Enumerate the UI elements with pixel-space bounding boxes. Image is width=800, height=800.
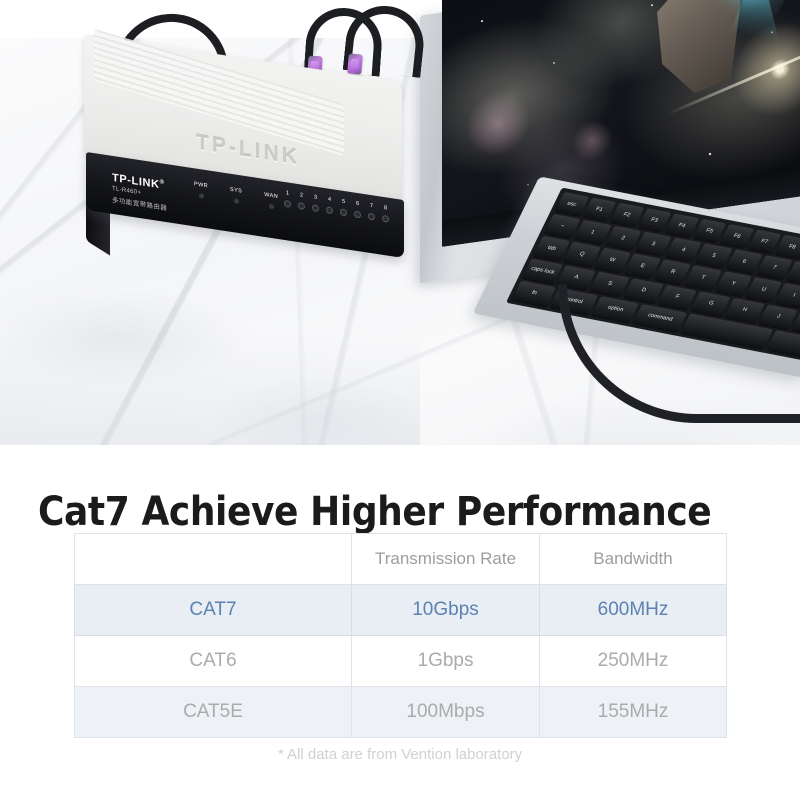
cell-category: CAT7 (75, 585, 352, 636)
cell-bandwidth: 600MHz (540, 585, 727, 636)
desk-edge-shadow (0, 330, 420, 445)
key: Q (564, 242, 601, 267)
led-pwr: PWR (194, 181, 208, 199)
table-row: CAT6 1Gbps 250MHz (75, 636, 727, 687)
key: fn (512, 280, 557, 306)
tp-link-router: TP-LINK TP-LINK® TL-R460+ 多功能宽带路由器 PWR S… (84, 58, 444, 273)
led-wan: WAN (264, 192, 278, 210)
port-indicator: 8 (382, 205, 389, 223)
cell-rate: 100Mbps (352, 687, 540, 738)
router-chinese-label: 多功能宽带路由器 (112, 194, 167, 212)
spec-table: Transmission Rate Bandwidth CAT7 10Gbps … (74, 533, 727, 738)
spaceship-icon (629, 0, 800, 139)
port-indicator: 2 (298, 192, 305, 210)
port-indicator: 5 (340, 198, 347, 216)
header-cell-blank (75, 534, 352, 585)
port-indicator: 3 (312, 194, 319, 212)
laptop: esc F1 F2 F3 F4 F5 F6 F7 F8 F9 F10 ~ 1 2… (420, 0, 800, 408)
header-cell-bandwidth: Bandwidth (540, 534, 727, 585)
connector-latch-icon (347, 53, 363, 74)
cell-bandwidth: 250MHz (540, 636, 727, 687)
ethernet-cable (558, 284, 800, 423)
router-port-group: 1 2 3 4 5 6 7 8 (284, 190, 389, 223)
table-header-row: Transmission Rate Bandwidth (75, 534, 727, 585)
product-infographic: esc F1 F2 F3 F4 F5 F6 F7 F8 F9 F10 ~ 1 2… (0, 0, 800, 800)
cell-rate: 1Gbps (352, 636, 540, 687)
port-indicator: 7 (368, 203, 375, 221)
content-area: Cat7 Achieve Higher Performance Transmis… (0, 445, 800, 800)
port-indicator: 6 (354, 200, 361, 218)
product-photo: esc F1 F2 F3 F4 F5 F6 F7 F8 F9 F10 ~ 1 2… (0, 0, 800, 445)
cell-bandwidth: 155MHz (540, 687, 727, 738)
key: caps lock (523, 258, 563, 283)
cell-rate: 10Gbps (352, 585, 540, 636)
header-cell-transmission-rate: Transmission Rate (352, 534, 540, 585)
port-indicator: 4 (326, 196, 333, 214)
cell-category: CAT6 (75, 636, 352, 687)
page-title: Cat7 Achieve Higher Performance (38, 489, 764, 535)
led-sys: SYS (230, 187, 242, 205)
router-led-group: PWR SYS WAN (194, 181, 278, 210)
table-row: CAT5E 100Mbps 155MHz (75, 687, 727, 738)
table-row: CAT7 10Gbps 600MHz (75, 585, 727, 636)
cell-category: CAT5E (75, 687, 352, 738)
key: 1 (574, 220, 611, 245)
port-indicator: 1 (284, 190, 291, 208)
footnote: * All data are from Vention laboratory (0, 746, 800, 763)
